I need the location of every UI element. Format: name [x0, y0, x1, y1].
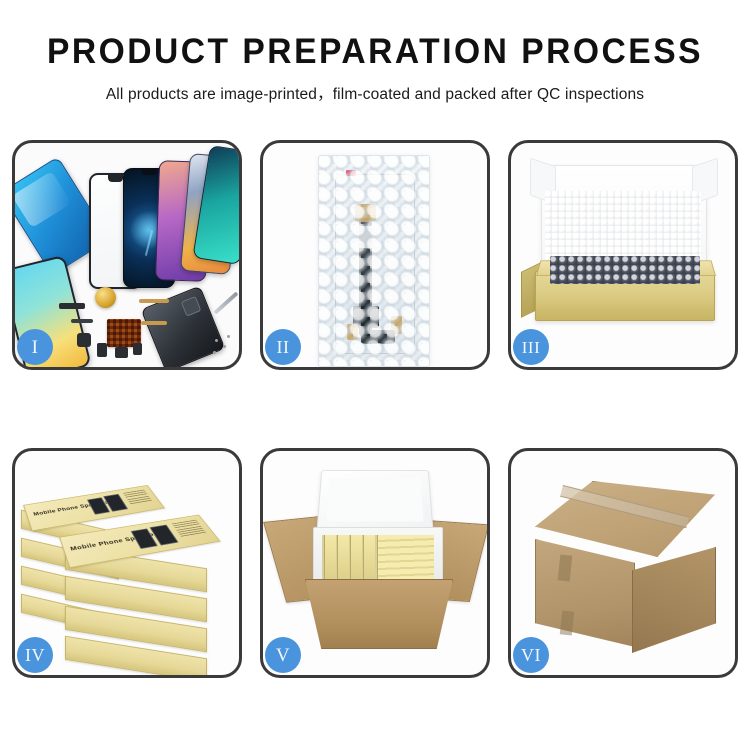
process-step-panel-1[interactable]: I: [12, 140, 242, 370]
gold-coil-part-icon: [95, 287, 116, 308]
step-badge-5: V: [265, 637, 301, 673]
step-badge-6: VI: [513, 637, 549, 673]
page-title: PRODUCT PREPARATION PROCESS: [15, 34, 735, 69]
grey-bubble-wrap-fill: [550, 256, 700, 284]
carton-seam-lower: [560, 610, 574, 635]
carton-body: [305, 579, 453, 649]
bubble-texture-overlay: [319, 156, 429, 366]
bubble-wrapped-screen-illustration: [263, 143, 487, 367]
page-subtitle: All products are image-printed，film-coat…: [0, 82, 750, 104]
process-step-panel-5[interactable]: V: [260, 448, 490, 678]
flex-cable-icon: [139, 299, 169, 303]
vibration-motor-icon: [133, 343, 142, 355]
small-chip-icon: [77, 333, 91, 347]
carton-front-face: [535, 539, 635, 647]
process-step-panel-4[interactable]: Mobile Phone Spare Parts Mobile: [12, 448, 242, 678]
carton-side-face: [632, 547, 716, 653]
carton-with-foam-illustration: [263, 451, 487, 675]
process-step-grid: I II: [12, 140, 738, 678]
foam-box-lid: [317, 470, 434, 530]
sealed-carton-illustration: [511, 451, 735, 675]
stacked-boxes-illustration: Mobile Phone Spare Parts Mobile: [15, 451, 239, 675]
step-badge-3: III: [513, 329, 549, 365]
process-step-panel-2[interactable]: II: [260, 140, 490, 370]
kraft-box-base: [535, 271, 715, 321]
header: PRODUCT PREPARATION PROCESS All products…: [0, 0, 750, 104]
bubble-wrap-bag: [318, 155, 430, 367]
stacked-product-boxes-inside: [377, 535, 434, 579]
foam-box-contents: [322, 535, 434, 579]
tweezers-icon: [214, 291, 239, 314]
process-step-panel-6[interactable]: VI: [508, 448, 738, 678]
flex-cable-icon: [141, 321, 167, 325]
process-step-panel-3[interactable]: III: [508, 140, 738, 370]
phone-parts-illustration: [15, 143, 239, 367]
camera-module-icon: [115, 347, 128, 358]
ribbon-cable-icon: [71, 319, 93, 323]
speaker-part-icon: [59, 303, 85, 309]
step-badge-4: IV: [17, 637, 53, 673]
foam-lined-box-illustration: [511, 143, 735, 367]
connector-chip-icon: [97, 343, 107, 357]
step-badge-2: II: [265, 329, 301, 365]
step-badge-1: I: [17, 329, 53, 365]
product-preparation-infographic: PRODUCT PREPARATION PROCESS All products…: [0, 0, 750, 750]
